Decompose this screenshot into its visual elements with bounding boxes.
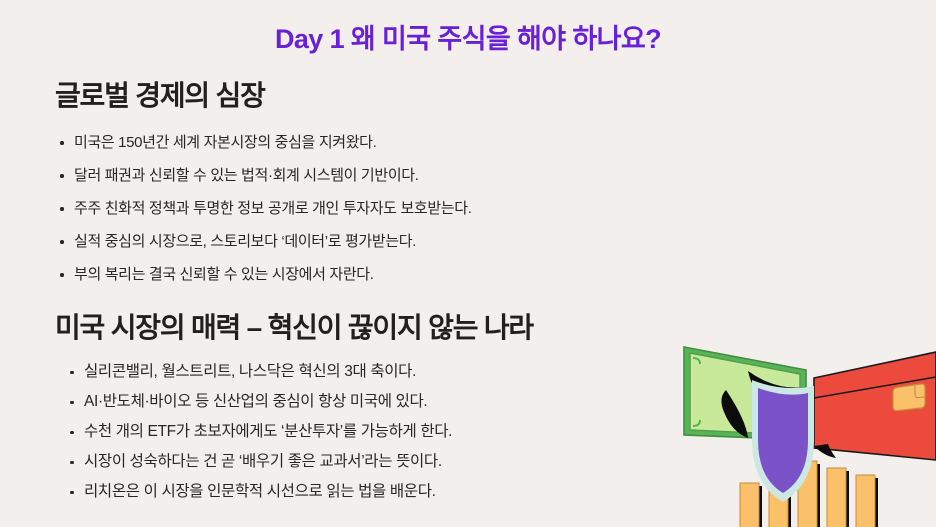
bullet-dot-icon	[70, 461, 74, 465]
bullet-dot-icon	[60, 207, 64, 211]
list-item: 수천 개의 ETF가 초보자에게도 ‘분산투자’를 가능하게 한다.	[70, 417, 452, 447]
list-item-label: 부의 복리는 결국 신뢰할 수 있는 시장에서 자란다.	[74, 266, 374, 283]
list-item-label: AI·반도체·바이오 등 신산업의 중심이 항상 미국에 있다.	[84, 393, 427, 410]
list-item-label: 미국은 150년간 세계 자본시장의 중심을 지켜왔다.	[74, 134, 376, 151]
section-heading-market-appeal: 미국 시장의 매력 – 혁신이 끊이지 않는 나라	[55, 306, 533, 346]
page-title: Day 1 왜 미국 주식을 해야 하나요?	[0, 17, 936, 56]
list-item: 달러 패권과 신뢰할 수 있는 법적·회계 시스템이 기반이다.	[60, 159, 472, 192]
list-item-label: 수천 개의 ETF가 초보자에게도 ‘분산투자’를 가능하게 한다.	[84, 423, 452, 440]
slide-canvas: Day 1 왜 미국 주식을 해야 하나요? 글로벌 경제의 심장 미국은 15…	[0, 0, 936, 527]
bullet-dot-icon	[60, 174, 64, 178]
bar-5	[856, 475, 878, 527]
list-item: AI·반도체·바이오 등 신산업의 중심이 항상 미국에 있다.	[70, 387, 452, 417]
bullet-dot-icon	[60, 273, 64, 277]
bullet-list-market-appeal: 실리콘밸리, 월스트리트, 나스닥은 혁신의 3대 축이다. AI·반도체·바이…	[70, 357, 452, 507]
list-item-label: 시장이 성숙하다는 건 곧 ‘배우기 좋은 교과서’라는 뜻이다.	[84, 453, 442, 470]
bullet-dot-icon	[70, 401, 74, 405]
finance-illustration	[660, 336, 936, 527]
bar-1	[740, 483, 762, 527]
card-chip-icon	[893, 384, 925, 411]
list-item-label: 리치온은 이 시장을 인문학적 시선으로 읽는 법을 배운다.	[84, 483, 436, 500]
list-item-label: 주주 친화적 정책과 투명한 정보 공개로 개인 투자자도 보호받는다.	[74, 200, 472, 217]
list-item: 미국은 150년간 세계 자본시장의 중심을 지켜왔다.	[60, 126, 472, 159]
bullet-list-global-economy: 미국은 150년간 세계 자본시장의 중심을 지켜왔다. 달러 패권과 신뢰할 …	[60, 126, 472, 291]
list-item: 주주 친화적 정책과 투명한 정보 공개로 개인 투자자도 보호받는다.	[60, 192, 472, 225]
bullet-dot-icon	[70, 431, 74, 435]
bar-4	[827, 468, 849, 527]
list-item: 부의 복리는 결국 신뢰할 수 있는 시장에서 자란다.	[60, 258, 472, 291]
bullet-dot-icon	[60, 240, 64, 244]
credit-card-icon	[814, 352, 936, 460]
list-item: 실리콘밸리, 월스트리트, 나스닥은 혁신의 3대 축이다.	[70, 357, 452, 387]
list-item-label: 달러 패권과 신뢰할 수 있는 법적·회계 시스템이 기반이다.	[74, 167, 419, 184]
bullet-dot-icon	[70, 371, 74, 375]
section-heading-global-economy: 글로벌 경제의 심장	[55, 74, 265, 114]
list-item: 시장이 성숙하다는 건 곧 ‘배우기 좋은 교과서’라는 뜻이다.	[70, 447, 452, 477]
list-item: 리치온은 이 시장을 인문학적 시선으로 읽는 법을 배운다.	[70, 477, 452, 507]
bullet-dot-icon	[60, 141, 64, 145]
list-item-label: 실적 중심의 시장으로, 스토리보다 ‘데이터’로 평가받는다.	[74, 233, 416, 250]
list-item-label: 실리콘밸리, 월스트리트, 나스닥은 혁신의 3대 축이다.	[84, 363, 416, 380]
bullet-dot-icon	[70, 491, 74, 495]
list-item: 실적 중심의 시장으로, 스토리보다 ‘데이터’로 평가받는다.	[60, 225, 472, 258]
